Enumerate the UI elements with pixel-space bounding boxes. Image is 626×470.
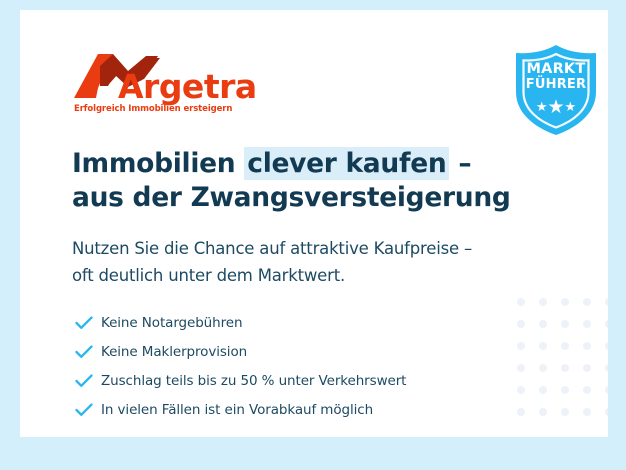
banner-canvas: Argetra Erfolgreich Immobilien ersteiger…	[0, 0, 626, 470]
badge-line-2: FÜHRER	[508, 78, 604, 92]
dot-row	[517, 386, 608, 394]
dot	[605, 364, 608, 372]
dot	[605, 408, 608, 416]
dot	[517, 364, 525, 372]
dot-row	[517, 298, 608, 306]
dot	[605, 386, 608, 394]
star-icon-left: ★	[536, 99, 548, 114]
headline-part-1: Immobilien	[72, 148, 244, 179]
dot	[583, 298, 591, 306]
headline: Immobilien clever kaufen – aus der Zwang…	[72, 147, 552, 216]
benefits-list: Keine NotargebührenKeine Maklerprovision…	[75, 308, 505, 424]
benefit-label: Keine Notargebühren	[101, 315, 242, 331]
dot	[561, 364, 569, 372]
dot-row	[517, 364, 608, 372]
dot	[539, 408, 547, 416]
dot-row	[517, 408, 608, 416]
dot	[517, 408, 525, 416]
benefit-label: Zuschlag teils bis zu 50 % unter Verkehr…	[101, 373, 406, 389]
subheadline-line-2: oft deutlich unter dem Marktwert.	[72, 266, 345, 285]
benefit-item: Zuschlag teils bis zu 50 % unter Verkehr…	[75, 366, 505, 395]
benefit-label: In vielen Fällen ist ein Vorabkauf mögli…	[101, 402, 373, 418]
star-icon-center: ★	[547, 97, 564, 118]
dot	[583, 386, 591, 394]
dot-row	[517, 342, 608, 350]
badge-text: MARKT FÜHRER	[508, 62, 604, 92]
dot	[583, 408, 591, 416]
subheadline-line-1: Nutzen Sie die Chance auf attraktive Kau…	[72, 239, 472, 258]
argetra-logo[interactable]: Argetra Erfolgreich Immobilien ersteiger…	[72, 52, 262, 114]
dot-row	[517, 320, 608, 328]
headline-part-3: –	[449, 148, 471, 179]
star-icon-right: ★	[565, 99, 577, 114]
dot	[605, 298, 608, 306]
dot	[517, 320, 525, 328]
dot	[517, 298, 525, 306]
dot	[539, 342, 547, 350]
check-icon	[75, 401, 101, 419]
benefit-item: Keine Notargebühren	[75, 308, 505, 337]
headline-highlight: clever kaufen	[244, 147, 449, 180]
dot-grid-decoration	[517, 298, 608, 437]
badge-stars: ★★★	[508, 98, 604, 117]
dot	[517, 386, 525, 394]
check-icon	[75, 314, 101, 332]
headline-line-2: aus der Zwangsversteigerung	[72, 182, 511, 213]
check-icon	[75, 372, 101, 390]
dot	[539, 364, 547, 372]
market-leader-badge: MARKT FÜHRER ★★★	[508, 42, 604, 138]
dot	[605, 320, 608, 328]
dot	[539, 386, 547, 394]
banner-card: Argetra Erfolgreich Immobilien ersteiger…	[20, 10, 608, 437]
benefit-item: Keine Maklerprovision	[75, 337, 505, 366]
dot	[561, 342, 569, 350]
logo-wordmark: Argetra	[118, 70, 257, 103]
dot	[583, 364, 591, 372]
dot	[561, 408, 569, 416]
dot	[539, 298, 547, 306]
dot	[539, 320, 547, 328]
badge-line-1: MARKT	[508, 62, 604, 78]
dot	[583, 342, 591, 350]
check-icon	[75, 343, 101, 361]
benefit-item: In vielen Fällen ist ein Vorabkauf mögli…	[75, 395, 505, 424]
benefit-label: Keine Maklerprovision	[101, 344, 247, 360]
dot	[583, 320, 591, 328]
logo-tagline: Erfolgreich Immobilien ersteigern	[74, 104, 232, 114]
dot	[561, 298, 569, 306]
dot	[605, 342, 608, 350]
dot	[561, 386, 569, 394]
subheadline: Nutzen Sie die Chance auf attraktive Kau…	[72, 236, 552, 289]
dot	[561, 320, 569, 328]
dot	[517, 342, 525, 350]
